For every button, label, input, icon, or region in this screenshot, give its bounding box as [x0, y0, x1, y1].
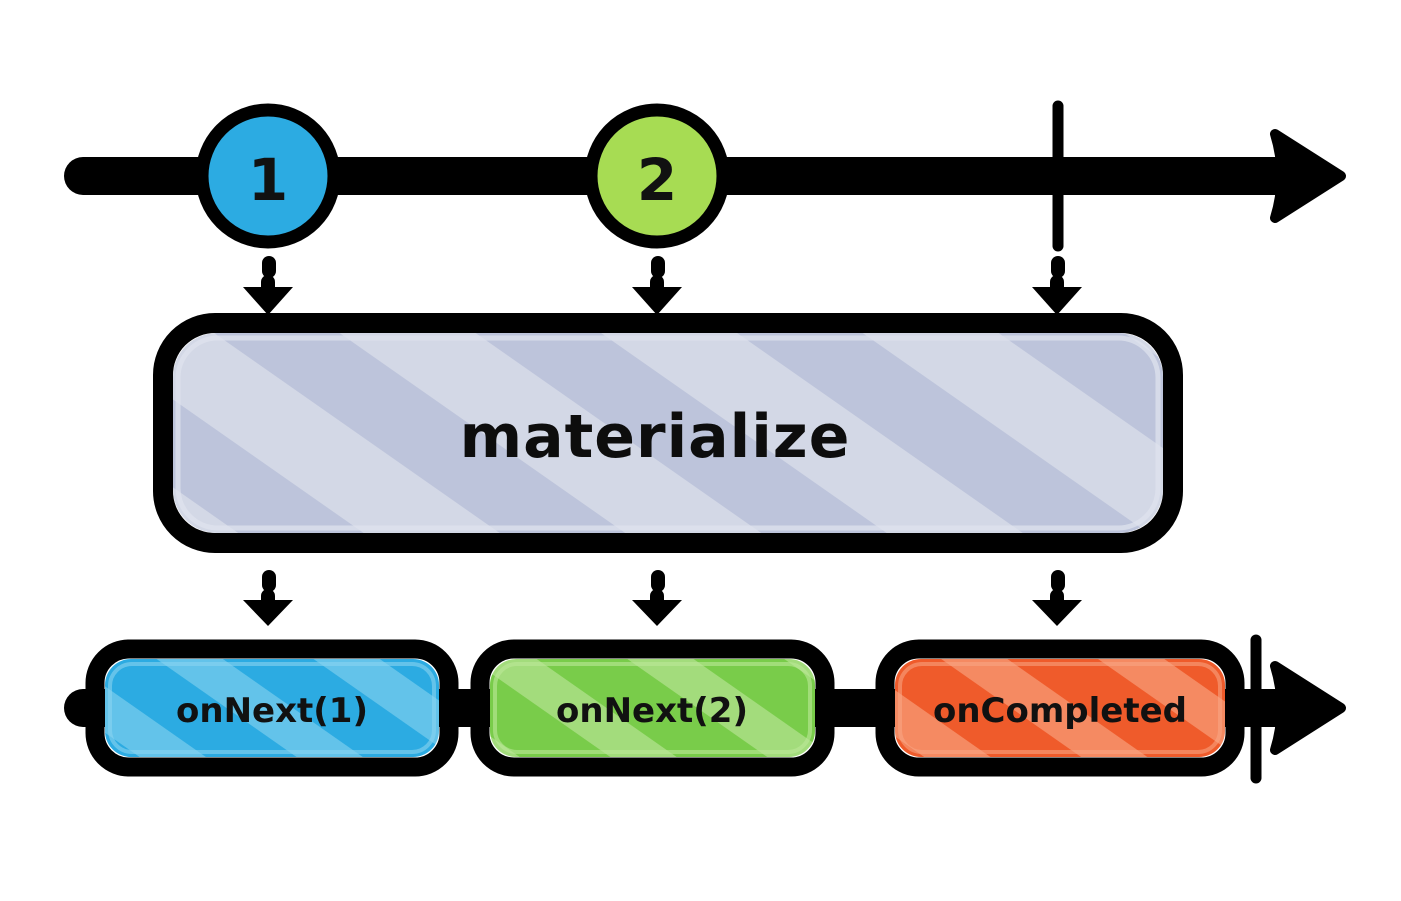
dashed-down-arrow-icon: [632, 570, 682, 626]
notification-box-oncompleted[interactable]: onCompleted: [885, 649, 1235, 767]
diagram-canvas: 1 2: [0, 0, 1401, 901]
marble-circle: [591, 110, 723, 242]
marble-diagram-svg: 1 2: [0, 0, 1401, 901]
notification-box-onnext-2[interactable]: onNext(2): [480, 649, 825, 767]
source-timeline-arrowhead: [1275, 134, 1341, 218]
notification-label: onNext(1): [176, 691, 368, 731]
source-marble-2[interactable]: 2: [591, 110, 723, 242]
notification-label: onNext(2): [556, 691, 748, 731]
dashed-down-arrow-icon: [1032, 256, 1082, 315]
dashed-down-arrow-icon: [632, 256, 682, 315]
marble-circle: [202, 110, 334, 242]
source-timeline-group: 1 2: [83, 106, 1341, 246]
dashed-down-arrow-icon: [1032, 570, 1082, 626]
result-timeline-group: onNext(1) onNext(2) onCompleted: [83, 640, 1341, 778]
top-connectors-group: [243, 256, 1082, 315]
notification-box-onnext-1[interactable]: onNext(1): [95, 649, 449, 767]
notification-label: onCompleted: [933, 691, 1187, 731]
source-marble-1[interactable]: 1: [202, 110, 334, 242]
bottom-connectors-group: [243, 570, 1082, 626]
dashed-down-arrow-icon: [243, 570, 293, 626]
dashed-down-arrow-icon: [243, 256, 293, 315]
result-timeline-arrowhead: [1275, 666, 1341, 750]
operator-label: materialize: [460, 402, 851, 472]
operator-box[interactable]: materialize: [163, 323, 1173, 543]
